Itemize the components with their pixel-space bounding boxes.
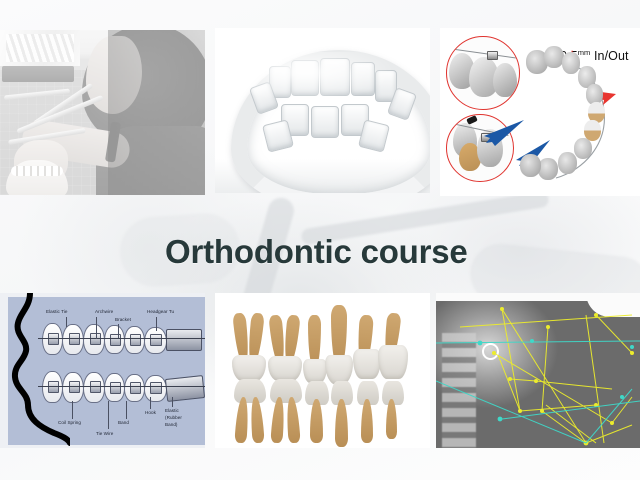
photo-fade-overlay bbox=[0, 30, 205, 195]
label-elastic-rubber-band-line2: (Rubber bbox=[165, 415, 182, 420]
label-headgear-tube: Headgear Tu bbox=[147, 309, 174, 314]
label-band: Band bbox=[118, 420, 129, 425]
label-bracket: Bracket bbox=[115, 317, 131, 322]
cephalometric-trace-lines bbox=[436, 293, 640, 448]
leader-elastic-rubber bbox=[172, 397, 173, 407]
leader-archwire bbox=[96, 317, 97, 339]
leader-coil-spring bbox=[72, 401, 73, 419]
label-archwire: Archwire bbox=[95, 309, 113, 314]
slide-canvas: 0.5mm In/Out bbox=[0, 0, 640, 480]
bracket-in-out-diagram: 0.5mm In/Out bbox=[440, 28, 640, 196]
leader-bracket bbox=[118, 324, 119, 338]
leader-tie-wire bbox=[108, 401, 109, 429]
tooth-anatomy-render bbox=[215, 293, 430, 448]
label-hook: Hook bbox=[145, 410, 156, 415]
label-elastic-rubber-band-line1: Elastic bbox=[165, 408, 179, 413]
page-title: Orthodontic course bbox=[165, 233, 468, 271]
orthodontic-technician-photo bbox=[0, 30, 205, 195]
label-tie-wire: Tie Wire bbox=[96, 431, 113, 436]
clear-aligner-tray-photo bbox=[215, 28, 430, 193]
aligner-highlight bbox=[245, 52, 395, 102]
leader-band bbox=[126, 401, 127, 419]
cephalometric-xray-tracing bbox=[436, 293, 640, 448]
lip-profile-outline bbox=[10, 293, 70, 448]
labeled-braces-diagram: Elastic Tie Archwire Bracket Headgear Tu… bbox=[0, 293, 205, 448]
leader-headgear-tube bbox=[156, 317, 157, 331]
label-elastic-rubber-band-line3: Band) bbox=[165, 422, 178, 427]
leader-hook bbox=[150, 397, 151, 409]
